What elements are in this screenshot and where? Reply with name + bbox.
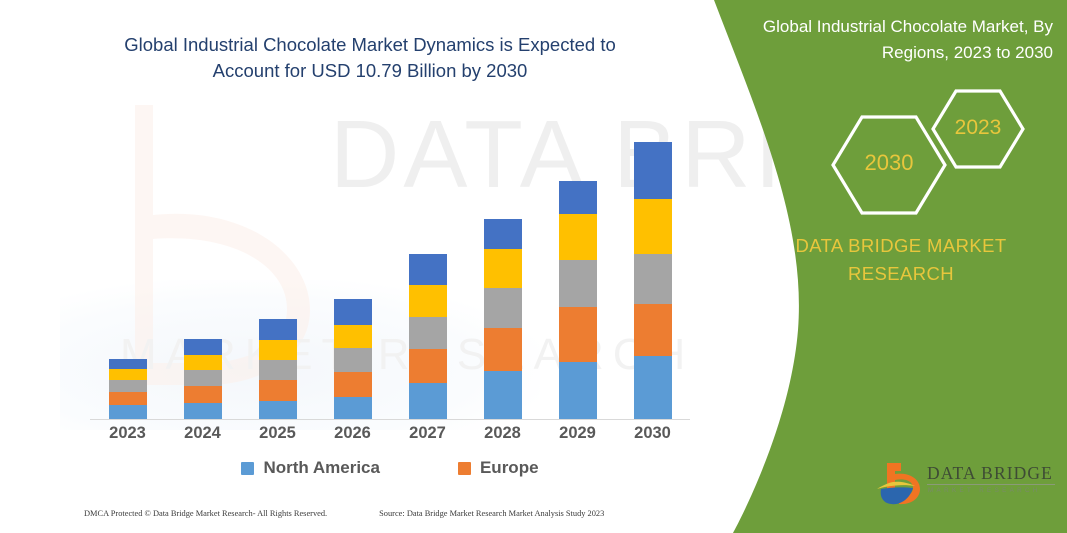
hexagon-2030: 2030 xyxy=(830,114,948,216)
x-axis-tick-2026: 2026 xyxy=(323,424,383,443)
panel-title-line-2: Regions, 2023 to 2030 xyxy=(753,40,1053,66)
bar-segment-2030-middle-east-and-africa[interactable] xyxy=(634,142,672,199)
bar-segment-2025-south-america[interactable] xyxy=(259,340,297,360)
bar-segment-2026-north-america[interactable] xyxy=(334,397,372,419)
footer: DMCA Protected © Data Bridge Market Rese… xyxy=(84,509,684,518)
footer-source: Source: Data Bridge Market Research Mark… xyxy=(379,509,604,518)
bar-segment-2027-europe[interactable] xyxy=(409,349,447,383)
bar-segment-2027-asia-pacific[interactable] xyxy=(409,317,447,349)
x-axis-tick-2028: 2028 xyxy=(473,424,533,443)
bar-segment-2027-north-america[interactable] xyxy=(409,383,447,419)
bar-2028[interactable] xyxy=(484,219,522,419)
bar-segment-2023-north-america[interactable] xyxy=(109,405,147,419)
bar-2024[interactable] xyxy=(184,339,222,419)
bar-segment-2024-middle-east-and-africa[interactable] xyxy=(184,339,222,355)
bar-2027[interactable] xyxy=(409,254,447,419)
logo-subtext: MARKET RESEARCH xyxy=(928,487,1041,494)
panel-title-line-1: Global Industrial Chocolate Market, By xyxy=(753,14,1053,40)
bar-segment-2028-middle-east-and-africa[interactable] xyxy=(484,219,522,249)
x-axis-tick-2027: 2027 xyxy=(398,424,458,443)
bar-segment-2024-europe[interactable] xyxy=(184,386,222,403)
bar-segment-2025-europe[interactable] xyxy=(259,380,297,401)
bar-segment-2026-middle-east-and-africa[interactable] xyxy=(334,299,372,325)
x-axis-tick-2030: 2030 xyxy=(623,424,683,443)
page-title-line-1: Global Industrial Chocolate Market Dynam… xyxy=(60,32,680,58)
legend-label: Europe xyxy=(480,458,539,478)
stacked-bar-chart xyxy=(90,120,690,420)
bar-segment-2030-europe[interactable] xyxy=(634,304,672,356)
bar-segment-2023-south-america[interactable] xyxy=(109,369,147,380)
bar-segment-2026-asia-pacific[interactable] xyxy=(334,348,372,372)
bar-segment-2027-middle-east-and-africa[interactable] xyxy=(409,254,447,285)
green-panel-content: Global Industrial Chocolate Market, By R… xyxy=(735,0,1067,533)
bar-segment-2028-asia-pacific[interactable] xyxy=(484,288,522,328)
bar-segment-2030-asia-pacific[interactable] xyxy=(634,254,672,304)
bar-segment-2023-europe[interactable] xyxy=(109,392,147,405)
page-title: Global Industrial Chocolate Market Dynam… xyxy=(60,32,680,84)
legend-swatch-icon xyxy=(241,462,254,475)
bar-segment-2023-asia-pacific[interactable] xyxy=(109,380,147,392)
bar-segment-2023-middle-east-and-africa[interactable] xyxy=(109,359,147,369)
bar-segment-2029-south-america[interactable] xyxy=(559,214,597,260)
logo-wordmark: DATA BRIDGE xyxy=(927,463,1053,484)
bar-segment-2030-north-america[interactable] xyxy=(634,356,672,419)
bar-segment-2028-north-america[interactable] xyxy=(484,371,522,419)
bar-2026[interactable] xyxy=(334,299,372,419)
bar-segment-2028-europe[interactable] xyxy=(484,328,522,371)
brand-name: DATA BRIDGE MARKET RESEARCH xyxy=(751,232,1051,288)
legend-swatch-icon xyxy=(458,462,471,475)
footer-copyright: DMCA Protected © Data Bridge Market Rese… xyxy=(84,509,327,518)
x-axis-tick-2029: 2029 xyxy=(548,424,608,443)
brand-line-2: RESEARCH xyxy=(751,260,1051,288)
bar-segment-2029-north-america[interactable] xyxy=(559,362,597,419)
bar-2025[interactable] xyxy=(259,319,297,419)
bar-segment-2025-north-america[interactable] xyxy=(259,401,297,419)
legend-item-north-america[interactable]: North America xyxy=(241,458,380,478)
chart-x-axis-labels: 20232024202520262027202820292030 xyxy=(90,424,690,450)
bar-segment-2029-middle-east-and-africa[interactable] xyxy=(559,181,597,214)
bar-segment-2028-south-america[interactable] xyxy=(484,249,522,288)
chart-plot-area xyxy=(90,127,690,420)
bar-segment-2024-north-america[interactable] xyxy=(184,403,222,419)
chart-legend: North AmericaEurope xyxy=(90,455,690,481)
panel-title: Global Industrial Chocolate Market, By R… xyxy=(753,14,1053,66)
bar-segment-2026-europe[interactable] xyxy=(334,372,372,397)
bar-2029[interactable] xyxy=(559,181,597,419)
page-title-line-2: Account for USD 10.79 Billion by 2030 xyxy=(60,58,680,84)
data-bridge-logo: DATA BRIDGE MARKET RESEARCH xyxy=(875,455,1065,513)
bar-segment-2024-south-america[interactable] xyxy=(184,355,222,370)
hexagon-2030-label: 2030 xyxy=(830,150,948,176)
legend-item-europe[interactable]: Europe xyxy=(458,458,539,478)
logo-rule xyxy=(927,484,1055,485)
hexagon-group: 2023 2030 xyxy=(830,88,1030,203)
x-axis-tick-2024: 2024 xyxy=(173,424,233,443)
bar-segment-2029-asia-pacific[interactable] xyxy=(559,260,597,307)
bar-2023[interactable] xyxy=(109,359,147,419)
bar-segment-2026-south-america[interactable] xyxy=(334,325,372,348)
chart-x-axis-line xyxy=(90,419,690,420)
bar-segment-2029-europe[interactable] xyxy=(559,307,597,362)
bar-segment-2024-asia-pacific[interactable] xyxy=(184,370,222,386)
brand-line-1: DATA BRIDGE MARKET xyxy=(751,232,1051,260)
bar-2030[interactable] xyxy=(634,142,672,419)
x-axis-tick-2025: 2025 xyxy=(248,424,308,443)
legend-label: North America xyxy=(263,458,380,478)
x-axis-tick-2023: 2023 xyxy=(98,424,158,443)
data-bridge-logo-icon xyxy=(875,459,923,509)
infographic-root: DATA BRIDGE MARKET RESEARCH Global Indus… xyxy=(0,0,1067,533)
bar-segment-2030-south-america[interactable] xyxy=(634,199,672,254)
bar-segment-2025-asia-pacific[interactable] xyxy=(259,360,297,380)
bar-segment-2027-south-america[interactable] xyxy=(409,285,447,317)
bar-segment-2025-middle-east-and-africa[interactable] xyxy=(259,319,297,340)
